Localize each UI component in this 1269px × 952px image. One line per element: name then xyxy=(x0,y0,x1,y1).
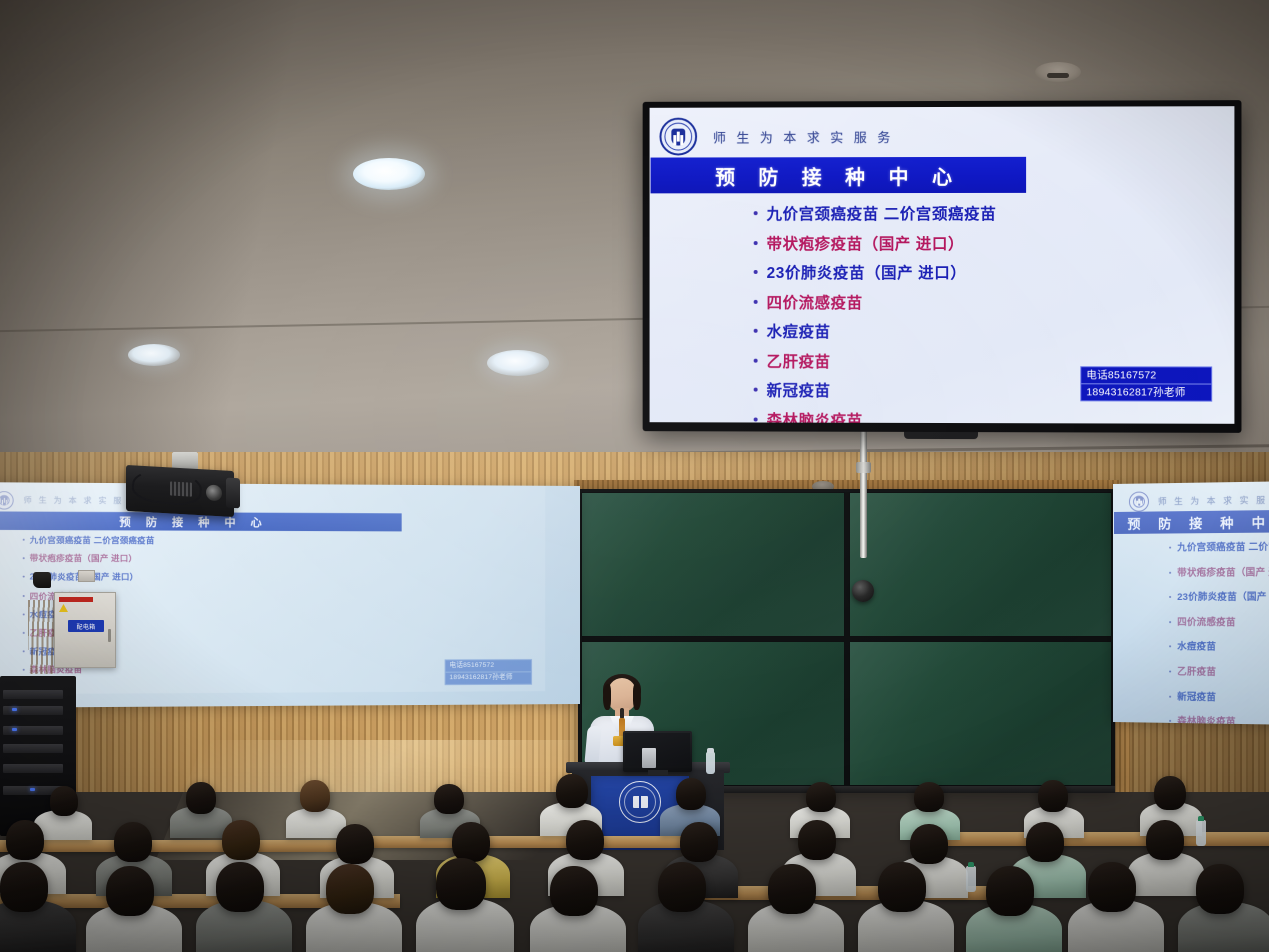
contact-box: 电话85167572 18943162817孙老师 xyxy=(445,659,532,685)
bullet-dot-icon xyxy=(1169,695,1171,697)
audience-head xyxy=(434,784,464,814)
contact-box: 电话85167572 18943162817孙老师 xyxy=(1080,366,1212,401)
audience-head xyxy=(556,774,588,808)
bullet-text: 四价流感疫苗 xyxy=(1177,614,1236,628)
audience-head xyxy=(798,820,836,860)
audience-head xyxy=(658,862,706,912)
slide-bullet: 水痘疫苗 xyxy=(650,320,1235,350)
rack-unit xyxy=(3,744,63,753)
slide-right-projection: 师 生 为 本 求 实 服 务 预 防 接 种 中 心 九价宫颈癌疫苗 二价宫颈… xyxy=(1113,481,1269,725)
wall-camera-icon xyxy=(33,572,51,588)
slide-header: 师 生 为 本 求 实 服 务 xyxy=(1113,485,1269,512)
bullet-text: 带状疱疹疫苗（国产 进口） xyxy=(767,231,965,253)
lecture-hall-photo: 师 生 为 本 求 实 服 务 预 防 接 种 中 心 九价宫颈癌疫苗 二价宫颈… xyxy=(0,0,1269,952)
presenter-hair-side xyxy=(603,684,611,710)
audience-head xyxy=(1154,776,1186,810)
slide-bullet: 乙肝疫苗 xyxy=(1113,663,1269,690)
bullet-dot-icon xyxy=(754,211,758,215)
bullet-dot-icon xyxy=(754,388,758,392)
bullet-dot-icon xyxy=(1169,547,1171,549)
slide-main: 师 生 为 本 求 实 服 务 预 防 接 种 中 心 九价宫颈癌疫苗 二价宫颈… xyxy=(650,106,1235,424)
bullet-dot-icon xyxy=(754,270,758,274)
slide-bullet: 新冠疫苗 xyxy=(1113,688,1269,716)
audience-head xyxy=(676,778,706,810)
monitor-screen xyxy=(625,733,690,766)
slide-bullet: 带状疱疹疫苗（国产 进口） xyxy=(1113,564,1269,590)
microphone-icon xyxy=(852,580,874,602)
audience-head xyxy=(452,822,490,862)
audience xyxy=(0,766,1269,952)
panel-badge: 配电箱 xyxy=(68,620,104,632)
slide-bullet: 23价肺炎疫苗（国产 进口） xyxy=(650,261,1235,291)
status-led-icon xyxy=(12,728,17,731)
bullet-text: 新冠疫苗 xyxy=(767,379,831,401)
slide-title-bar: 预 防 接 种 中 心 xyxy=(1114,510,1269,534)
bullet-dot-icon xyxy=(23,669,25,671)
slide-motto: 师 生 为 本 求 实 服 务 xyxy=(713,127,894,146)
audience-head xyxy=(910,824,948,864)
warning-triangle-icon xyxy=(59,604,68,612)
desk-row xyxy=(930,832,1269,846)
bullet-text: 带状疱疹疫苗（国产 进口） xyxy=(30,553,137,565)
ceiling-light xyxy=(128,344,180,366)
bullet-dot-icon xyxy=(1169,571,1171,573)
smoke-detector-icon xyxy=(1035,62,1081,82)
warning-label-red xyxy=(59,597,93,602)
laptop-device[interactable] xyxy=(642,748,656,768)
ceiling-shadow-left xyxy=(0,0,330,500)
slide-title: 预 防 接 种 中 心 xyxy=(715,160,961,189)
slide-bullet: 九价宫颈癌疫苗 二价宫颈癌疫苗 xyxy=(0,534,545,554)
contact-phone: 电话85167572 xyxy=(1081,367,1211,383)
audience-head xyxy=(436,858,486,910)
bullet-text: 森林脑炎疫苗 xyxy=(767,408,863,424)
bullet-dot-icon xyxy=(23,650,25,652)
bullet-dot-icon xyxy=(1169,720,1171,722)
slide-bullet: 水痘疫苗 xyxy=(1113,638,1269,664)
rack-unit xyxy=(3,690,63,699)
slide-title-bar: 预 防 接 种 中 心 xyxy=(651,157,1027,194)
audience-head xyxy=(216,862,264,912)
bullet-dot-icon xyxy=(754,358,758,362)
university-hospital-emblem-icon xyxy=(0,491,14,510)
audience-head xyxy=(680,822,718,862)
panel-handle[interactable] xyxy=(108,629,111,642)
slide-bullet: 23价肺炎疫苗（国产 进口） xyxy=(1113,589,1269,614)
audience-head xyxy=(566,820,604,860)
projector-lens-icon xyxy=(206,484,222,501)
university-hospital-emblem-icon xyxy=(1129,491,1149,511)
tv-foot xyxy=(904,432,978,439)
bullet-dot-icon xyxy=(754,241,758,245)
wall-switch[interactable] xyxy=(78,570,95,582)
audience-head xyxy=(6,820,44,860)
presenter-hair-side xyxy=(633,684,641,710)
audience-head xyxy=(806,782,836,812)
contact-phone: 电话85167572 xyxy=(446,660,531,672)
audience-head xyxy=(878,862,926,912)
cable-bundle xyxy=(28,600,54,674)
tv-screen: 师 生 为 本 求 实 服 务 预 防 接 种 中 心 九价宫颈癌疫苗 二价宫颈… xyxy=(650,106,1235,424)
audience-head xyxy=(114,822,152,862)
bullet-dot-icon xyxy=(23,539,25,541)
audience-head xyxy=(1196,864,1244,914)
bullet-text: 四价流感疫苗 xyxy=(767,290,863,312)
water-bottle xyxy=(966,866,976,892)
audience-head xyxy=(550,866,598,916)
bullet-text: 水痘疫苗 xyxy=(1177,639,1216,653)
audience-head xyxy=(222,820,260,860)
desk-row xyxy=(0,840,340,852)
bullet-text: 九价宫颈癌疫苗 二价宫颈癌疫苗 xyxy=(30,534,155,546)
slide-header: 师 生 为 本 求 实 服 务 xyxy=(650,110,1235,157)
contact-mobile: 18943162817孙老师 xyxy=(446,671,531,684)
bullet-text: 九价宫颈癌疫苗 二价宫颈癌疫苗 xyxy=(767,202,997,224)
audience-head xyxy=(50,786,78,816)
audience-head xyxy=(300,780,330,812)
wall-mounted-tv[interactable]: 师 生 为 本 求 实 服 务 预 防 接 种 中 心 九价宫颈癌疫苗 二价宫颈… xyxy=(643,100,1242,433)
chalkboard-panel xyxy=(849,641,1113,786)
audience-head xyxy=(186,782,216,814)
electrical-distribution-box[interactable]: 配电箱 xyxy=(54,592,116,668)
slide-motto: 师 生 为 本 求 实 服 务 xyxy=(24,495,139,506)
bullet-text: 乙肝疫苗 xyxy=(1177,663,1216,677)
microphone-collar xyxy=(856,462,871,473)
chalkboard-panel xyxy=(849,492,1113,637)
slide-title: 预 防 接 种 中 心 xyxy=(1127,511,1269,532)
chalkboard-panel xyxy=(581,492,845,637)
slide-bullet: 带状疱疹疫苗（国产 进口） xyxy=(0,552,545,571)
slide-bullet: 九价宫颈癌疫苗 二价宫颈癌疫苗 xyxy=(1113,538,1269,564)
bullet-dot-icon xyxy=(23,595,25,597)
slide-motto: 师 生 为 本 求 实 服 务 xyxy=(1158,493,1269,507)
slide-bullet-list: 九价宫颈癌疫苗 二价宫颈癌疫苗 带状疱疹疫苗（国产 进口） 23价肺炎疫苗（国产… xyxy=(1113,532,1269,725)
slide-bullet: 九价宫颈癌疫苗 二价宫颈癌疫苗 xyxy=(650,202,1235,232)
audience-head xyxy=(1038,780,1068,812)
bullet-dot-icon xyxy=(1169,646,1171,648)
bullet-text: 23价肺炎疫苗（国产 进口） xyxy=(1177,589,1269,603)
slide-title: 预 防 接 种 中 心 xyxy=(119,513,267,529)
slide-bullet: 带状疱疹疫苗（国产 进口） xyxy=(650,231,1235,261)
bullet-text: 带状疱疹疫苗（国产 进口） xyxy=(1177,564,1269,579)
audience-head xyxy=(1146,820,1184,860)
bullet-text: 新冠疫苗 xyxy=(1177,688,1216,703)
contact-mobile: 18943162817孙老师 xyxy=(1081,383,1211,400)
bullet-dot-icon xyxy=(23,576,25,578)
bullet-text: 乙肝疫苗 xyxy=(767,349,831,371)
bullet-dot-icon xyxy=(754,329,758,333)
audience-head xyxy=(106,866,154,916)
projection-screen-right: 师 生 为 本 求 实 服 务 预 防 接 种 中 心 九价宫颈癌疫苗 二价宫颈… xyxy=(1113,481,1269,725)
bullet-dot-icon xyxy=(1169,596,1171,598)
bullet-dot-icon xyxy=(1169,621,1171,623)
water-bottle xyxy=(1196,820,1206,846)
university-hospital-emblem-icon xyxy=(659,118,697,156)
slide-bullet: 森林脑炎疫苗 xyxy=(650,408,1235,424)
audience-head xyxy=(1026,822,1064,862)
audience-head xyxy=(986,866,1034,916)
bullet-dot-icon xyxy=(754,299,758,303)
audience-head xyxy=(1088,862,1136,912)
ceiling-light xyxy=(487,350,549,376)
panel-badge-label: 配电箱 xyxy=(77,622,96,631)
hanging-microphone-pole xyxy=(860,430,867,558)
slide-bullet: 四价流感疫苗 xyxy=(650,290,1235,320)
slide-header: 师 生 为 本 求 实 服 务 xyxy=(0,486,545,514)
bullet-text: 23价肺炎疫苗（国产 进口） xyxy=(767,261,967,283)
slide-bullet: 四价流感疫苗 xyxy=(1113,614,1269,640)
desk-row xyxy=(700,886,1030,900)
audience-head xyxy=(336,824,374,864)
audience-head xyxy=(326,864,374,914)
bullet-dot-icon xyxy=(23,632,25,634)
bullet-dot-icon xyxy=(23,613,25,615)
bullet-dot-icon xyxy=(1169,670,1171,672)
audience-head xyxy=(768,864,816,914)
bullet-dot-icon xyxy=(754,417,758,421)
status-led-icon xyxy=(12,708,17,711)
bullet-text: 九价宫颈癌疫苗 二价宫颈癌疫苗 xyxy=(1177,538,1269,553)
audience-head xyxy=(0,862,48,912)
bullet-dot-icon xyxy=(23,557,25,559)
audience-head xyxy=(914,782,944,812)
ceiling-light xyxy=(353,158,425,190)
bullet-text: 水痘疫苗 xyxy=(767,320,831,342)
